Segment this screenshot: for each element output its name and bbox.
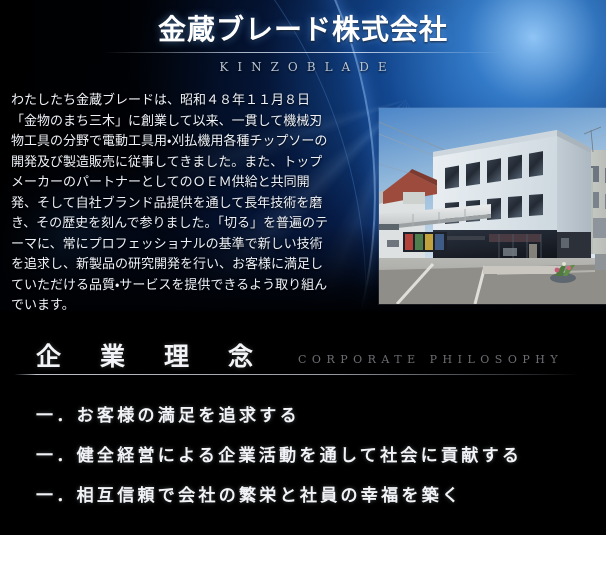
company-name-japanese: 金蔵ブレード株式会社 bbox=[0, 12, 606, 48]
philosophy-section: 企 業 理 念 CORPORATE PHILOSOPHY 一．お客様の満足を追求… bbox=[0, 311, 606, 535]
philosophy-list: 一．お客様の満足を追求する 一．健全経営による企業活動を通して社会に貢献する 一… bbox=[36, 406, 576, 526]
brand-block: 金蔵ブレード株式会社 KINZOBLADE bbox=[0, 12, 606, 74]
company-intro-paragraph: わたしたち金蔵ブレードは、昭和４８年１１月８日「金物のまち三木」に創業して以来、… bbox=[11, 90, 329, 311]
page-root: 金蔵ブレード株式会社 KINZOBLADE わたしたち金蔵ブレードは、昭和４８年… bbox=[0, 0, 606, 588]
company-intro-text: わたしたち金蔵ブレードは、昭和４８年１１月８日「金物のまち三木」に創業して以来、… bbox=[11, 90, 329, 311]
philosophy-list-item: 一．お客様の満足を追求する bbox=[36, 406, 576, 426]
philosophy-list-item: 一．相互信頼で会社の繁栄と社員の幸福を築く bbox=[36, 486, 576, 506]
philosophy-heading: 企 業 理 念 CORPORATE PHILOSOPHY bbox=[36, 343, 563, 371]
company-building-photo bbox=[379, 108, 606, 304]
company-name-romaji: KINZOBLADE bbox=[0, 60, 606, 74]
philosophy-heading-english: CORPORATE PHILOSOPHY bbox=[298, 352, 563, 371]
philosophy-list-item: 一．健全経営による企業活動を通して社会に貢献する bbox=[36, 446, 576, 466]
brand-divider bbox=[104, 52, 502, 53]
philosophy-divider bbox=[14, 374, 580, 375]
philosophy-heading-japanese: 企 業 理 念 bbox=[36, 343, 260, 371]
footer-area bbox=[0, 535, 606, 588]
hero-section: 金蔵ブレード株式会社 KINZOBLADE わたしたち金蔵ブレードは、昭和４８年… bbox=[0, 0, 606, 311]
